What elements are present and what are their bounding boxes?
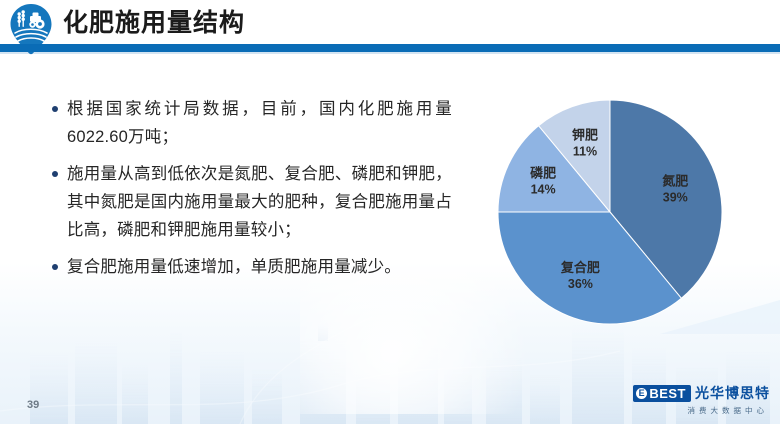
pie-slice-value-label: 14%: [531, 183, 556, 197]
page-number: 39: [27, 399, 39, 411]
brand-e-icon: E: [636, 388, 647, 399]
bullet-text: 根据国家统计局数据，目前，国内化肥施用量6022.60万吨；: [67, 95, 452, 151]
pie-slice-category-label: 钾肥: [572, 128, 598, 143]
header-accent-bar: [0, 44, 780, 52]
slide-canvas: 化肥施用量结构 根据国家统计局数据，目前，国内化肥施用量6022.60万吨； 施…: [0, 0, 780, 424]
list-item: 复合肥施用量低速增加，单质肥施用量减少。: [52, 253, 452, 281]
pie-slice-group: [498, 100, 722, 324]
brand-logo: E BEST 光华博思特 消费大数据中心: [633, 383, 770, 416]
bullet-dot-icon: [52, 106, 58, 112]
list-item: 根据国家统计局数据，目前，国内化肥施用量6022.60万吨；: [52, 95, 452, 151]
header-accent-bar-shadow: [0, 52, 780, 54]
pie-slice-category-label: 磷肥: [530, 166, 556, 181]
slide-header: 化肥施用量结构: [0, 0, 780, 56]
brand-subtitle: 消费大数据中心: [633, 405, 768, 416]
pie-slice-value-label: 36%: [568, 277, 593, 291]
bullet-text: 复合肥施用量低速增加，单质肥施用量减少。: [67, 253, 401, 281]
bullet-dot-icon: [52, 264, 58, 270]
bullet-list: 根据国家统计局数据，目前，国内化肥施用量6022.60万吨； 施用量从高到低依次…: [52, 95, 452, 290]
brand-mark-text: BEST: [649, 386, 686, 401]
pie-chart: 氮肥39%复合肥36%磷肥14%钾肥11%: [488, 92, 738, 332]
pie-slice-value-label: 39%: [663, 191, 688, 205]
brand-name: 光华博思特: [695, 383, 770, 403]
pie-slice-category-label: 氮肥: [662, 174, 688, 189]
bullet-dot-icon: [52, 171, 58, 177]
brand-mark-badge: E BEST: [633, 385, 691, 402]
list-item: 施用量从高到低依次是氮肥、复合肥、磷肥和钾肥，其中氮肥是国内施用量最大的肥种，复…: [52, 160, 452, 244]
bullet-text: 施用量从高到低依次是氮肥、复合肥、磷肥和钾肥，其中氮肥是国内施用量最大的肥种，复…: [67, 160, 452, 244]
pie-slice-category-label: 复合肥: [560, 260, 600, 275]
pie-slice-value-label: 11%: [573, 145, 597, 159]
page-title: 化肥施用量结构: [63, 6, 245, 40]
pie-chart-svg: 氮肥39%复合肥36%磷肥14%钾肥11%: [488, 92, 738, 332]
